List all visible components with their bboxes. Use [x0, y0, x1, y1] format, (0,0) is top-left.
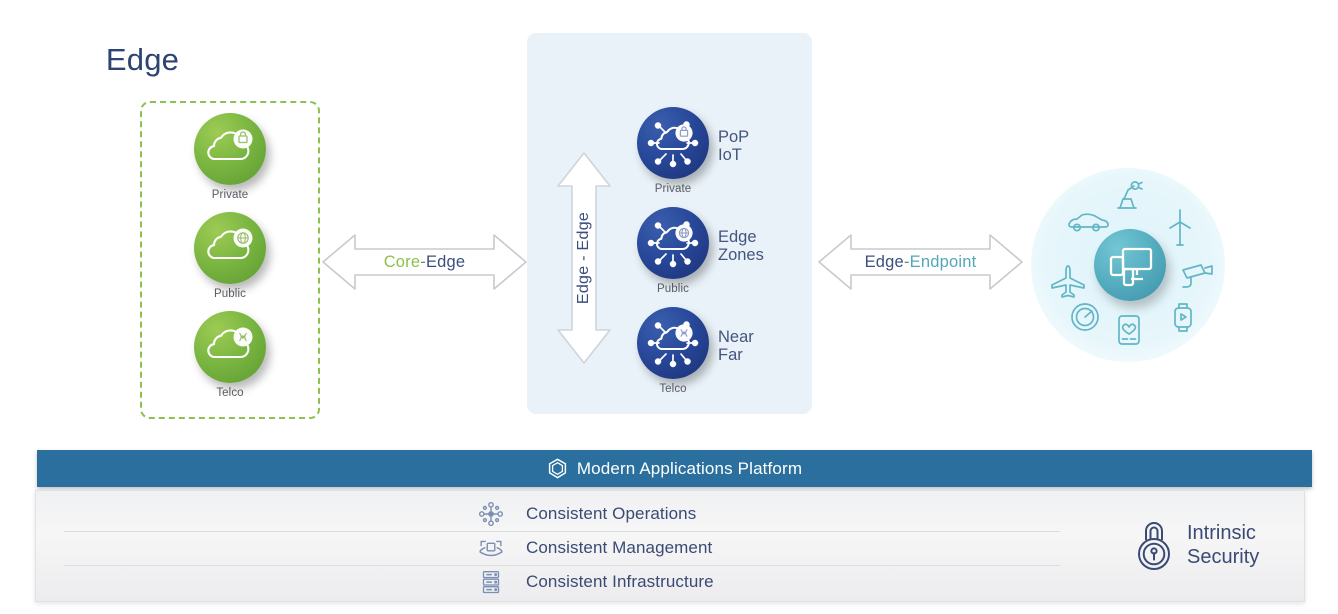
platform-row-infrastructure[interactable]: Consistent Infrastructure [36, 565, 1096, 599]
hexagon-ring-icon [547, 458, 568, 479]
security-camera-icon [1183, 265, 1212, 287]
core-node-public[interactable]: Public [170, 212, 290, 300]
edge-node-label-near-far: Near Far [718, 328, 754, 365]
node-cluster-icon [476, 499, 506, 529]
core-node-caption: Telco [170, 387, 290, 399]
cloud-signal-icon [194, 311, 266, 383]
platform-row-label: Consistent Management [526, 538, 712, 558]
padlock-icon [1131, 520, 1177, 572]
network-cloud-signal-icon [637, 307, 709, 379]
diagram-canvas: Private Public Telco [0, 0, 1338, 614]
intrinsic-security-label: Intrinsic Security [1187, 522, 1259, 569]
row-divider [64, 565, 1060, 566]
endpoint-cluster [1031, 168, 1225, 362]
modern-applications-platform-bar[interactable]: Modern Applications Platform [37, 450, 1312, 487]
devices-icon [1094, 229, 1166, 301]
core-node-telco[interactable]: Telco [170, 311, 290, 399]
platform-body: Consistent Operations Consistent Managem… [35, 490, 1305, 602]
core-node-caption: Private [170, 189, 290, 201]
arrow-label-edge: Edge [865, 253, 904, 272]
edge-node-label-edge-zones: Edge Zones [718, 228, 764, 265]
edge-node-caption: Telco [613, 383, 733, 395]
edge-node-edge-zones[interactable]: Public [613, 207, 733, 295]
cloud-lock-icon [194, 113, 266, 185]
network-cloud-lock-icon [637, 107, 709, 179]
cloud-globe-icon [194, 212, 266, 284]
medical-monitor-icon [1119, 316, 1139, 344]
arrow-edge-edge: Edge - Edge [556, 152, 612, 364]
edge-node-pop-iot[interactable]: Private [613, 107, 733, 195]
management-box-icon [476, 533, 506, 563]
intrinsic-security-block[interactable]: Intrinsic Security [1131, 513, 1311, 579]
arrow-edge-endpoint: Edge - Endpoint [818, 229, 1023, 295]
arrow-core-edge: Core - Edge [322, 229, 527, 295]
gauge-icon [1072, 304, 1098, 330]
edge-node-label-pop-iot: PoP IoT [718, 128, 749, 165]
arrow-label-core: Core [384, 253, 421, 272]
edge-node-near-far[interactable]: Telco [613, 307, 733, 395]
airplane-icon [1052, 266, 1084, 297]
arrow-label-edge: Edge [426, 253, 465, 272]
platform-row-label: Consistent Operations [526, 504, 696, 524]
core-node-caption: Public [170, 288, 290, 300]
platform-row-operations[interactable]: Consistent Operations [36, 497, 1096, 531]
arrow-edge-edge-label: Edge - Edge [575, 212, 593, 304]
network-cloud-globe-icon [637, 207, 709, 279]
core-node-private[interactable]: Private [170, 113, 290, 201]
edge-node-caption: Private [613, 183, 733, 195]
edge-node-caption: Public [613, 283, 733, 295]
arrow-label-endpoint: Endpoint [910, 253, 977, 272]
platform-bar-label: Modern Applications Platform [577, 459, 802, 479]
server-rack-icon [476, 567, 506, 597]
platform-row-management[interactable]: Consistent Management [36, 531, 1096, 565]
row-divider [64, 531, 1060, 532]
wind-turbine-icon [1170, 210, 1190, 245]
edge-panel-title: Edge [0, 42, 285, 78]
robot-arm-icon [1118, 182, 1142, 208]
smartwatch-icon [1175, 304, 1191, 331]
platform-row-label: Consistent Infrastructure [526, 572, 714, 592]
